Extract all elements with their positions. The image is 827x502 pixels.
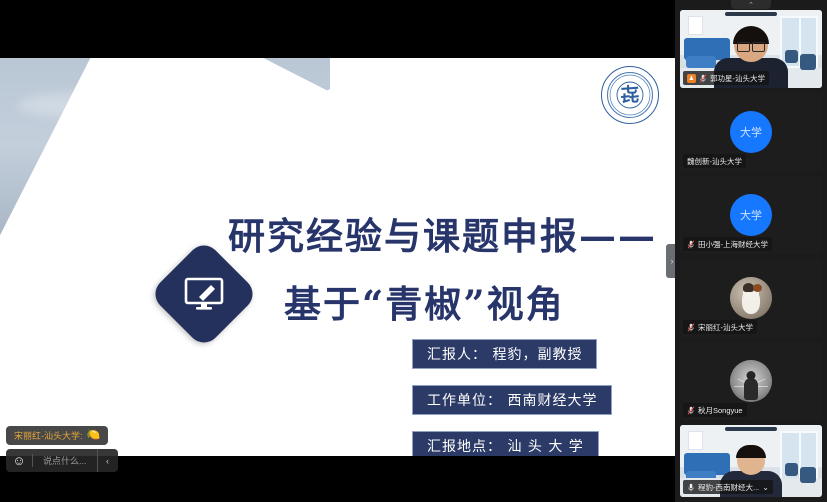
mic-muted-icon <box>699 74 707 83</box>
participant-filmstrip: ⌃ <box>675 0 827 502</box>
participant-tile[interactable]: 宋丽红-汕头大学 <box>680 259 822 337</box>
participant-namebar: 魏创新-汕头大学 <box>683 154 746 168</box>
participant-namebar: 程豹-西南财经大... ⌄ <box>683 480 773 494</box>
participant-tile[interactable]: 大学 魏创新-汕头大学 <box>680 93 822 171</box>
participant-tile[interactable]: 秋月Songyue <box>680 342 822 420</box>
scroll-up-button[interactable]: ⌃ <box>731 0 771 9</box>
chat-input-bar[interactable]: ☺ 说点什么... ‹ <box>6 449 118 472</box>
avatar <box>730 277 772 319</box>
seal-inner-ring: 㐂 <box>607 72 653 118</box>
presentation-slide: 㐂 研究经验与课题申报—— 基于“青椒”视角 汇报人： 程豹，副教授 工作单位：… <box>0 58 675 456</box>
chat-sender-name: 宋丽红-汕头大学: <box>14 429 83 442</box>
host-badge-icon: ♟ <box>687 74 696 83</box>
cat-photo <box>730 277 772 319</box>
participant-name: 田小强-上海财经大学 <box>698 239 768 250</box>
mic-muted-icon <box>687 240 695 249</box>
monitor-pen-icon <box>165 255 243 333</box>
participant-name: 程豹-西南财经大... <box>698 482 759 493</box>
participant-namebar: 秋月Songyue <box>683 403 747 417</box>
slide-info-location: 汇报地点： 汕 头 大 学 <box>412 431 599 456</box>
chevron-left-icon[interactable]: ‹ <box>97 449 118 472</box>
chevron-down-icon[interactable]: ⌄ <box>762 483 769 492</box>
portrait-photo <box>730 360 772 402</box>
mic-muted-icon <box>687 323 695 332</box>
avatar: 大学 <box>730 194 772 236</box>
participant-namebar: ♟ 郭功星-汕头大学 <box>683 71 769 85</box>
slide-info-affiliation: 工作单位： 西南财经大学 <box>412 385 612 415</box>
participant-namebar: 田小强-上海财经大学 <box>683 237 772 251</box>
slide-info-presenter: 汇报人： 程豹，副教授 <box>412 339 597 369</box>
mic-muted-icon <box>687 406 695 415</box>
participant-name: 魏创新-汕头大学 <box>687 156 742 167</box>
lemon-emoji-icon: 🍋 <box>87 430 101 441</box>
participant-tile[interactable]: 程豹-西南财经大... ⌄ <box>680 425 822 497</box>
mic-icon <box>687 483 695 492</box>
participant-tile[interactable]: ♟ 郭功星-汕头大学 <box>680 10 822 88</box>
avatar: 大学 <box>730 111 772 153</box>
slide-title-line1: 研究经验与课题申报—— <box>228 206 657 260</box>
participant-namebar: 宋丽红-汕头大学 <box>683 320 757 334</box>
participant-name: 秋月Songyue <box>698 405 743 416</box>
emoji-picker-icon[interactable]: ☺ <box>6 453 32 468</box>
meeting-window: 㐂 研究经验与课题申报—— 基于“青椒”视角 汇报人： 程豹，副教授 工作单位：… <box>0 0 827 502</box>
avatar <box>730 360 772 402</box>
participant-name: 郭功星-汕头大学 <box>710 73 765 84</box>
participant-name: 宋丽红-汕头大学 <box>698 322 753 333</box>
chat-message-bubble: 宋丽红-汕头大学: 🍋 <box>6 426 108 445</box>
filmstrip-collapse-handle[interactable]: › <box>666 244 675 278</box>
shared-screen-area: 㐂 研究经验与课题申报—— 基于“青椒”视角 汇报人： 程豹，副教授 工作单位：… <box>0 0 675 502</box>
participant-tile[interactable]: 大学 田小强-上海财经大学 <box>680 176 822 254</box>
university-seal-logo: 㐂 <box>601 66 659 124</box>
slide-title-line2: 基于“青椒”视角 <box>284 274 565 328</box>
chat-input[interactable]: 说点什么... <box>33 454 97 467</box>
